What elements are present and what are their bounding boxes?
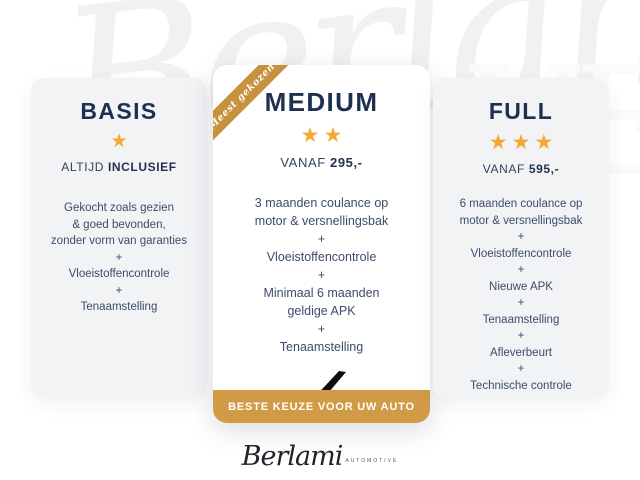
star-icon: ★ bbox=[301, 125, 320, 146]
feature-line: Vloeistoffencontrole bbox=[227, 248, 416, 266]
feature-list-full: 6 maanden coulance op motor & versnellin… bbox=[443, 196, 599, 394]
plan-price-medium: VANAF 295,- bbox=[225, 155, 418, 170]
cta-best-choice-button[interactable]: BESTE KEUZE VOOR UW AUTO bbox=[213, 390, 430, 423]
pricing-card-medium[interactable]: Meest gekozen MEDIUM ★ ★ VANAF 295,- 3 m… bbox=[213, 65, 430, 423]
star-rating-medium: ★ ★ bbox=[225, 125, 418, 146]
plan-subtitle-label: ALTIJD bbox=[61, 160, 104, 174]
star-rating-basis: ★ bbox=[41, 132, 197, 151]
plan-subtitle-emphasis: INCLUSIEF bbox=[108, 160, 177, 174]
feature-line: motor & versnellingsbak bbox=[227, 212, 416, 230]
feature-line: Tenaamstelling bbox=[227, 338, 416, 356]
feature-line: zonder vorm van garanties bbox=[43, 233, 195, 250]
feature-list-medium: 3 maanden coulance op motor & versnellin… bbox=[225, 194, 418, 356]
pricing-card-group: BASIS ★ ALTIJD INCLUSIEF Gekocht zoals g… bbox=[0, 0, 640, 480]
feature-line: Vloeistoffencontrole bbox=[43, 266, 195, 283]
feature-line: geldige APK bbox=[227, 302, 416, 320]
plan-price-full: VANAF 595,- bbox=[443, 162, 599, 176]
feature-separator: + bbox=[445, 295, 597, 312]
star-icon: ★ bbox=[110, 132, 127, 151]
logo-subtitle-text: AUTOMOTIVE bbox=[345, 458, 398, 470]
pricing-card-basis[interactable]: BASIS ★ ALTIJD INCLUSIEF Gekocht zoals g… bbox=[31, 78, 207, 398]
feature-separator: + bbox=[227, 266, 416, 284]
feature-line: Technische controle bbox=[445, 378, 597, 395]
feature-line: Tenaamstelling bbox=[445, 312, 597, 329]
feature-separator: + bbox=[445, 229, 597, 246]
feature-line: Gekocht zoals gezien bbox=[43, 200, 195, 217]
price-prefix-label: VANAF bbox=[280, 155, 325, 170]
logo-script-text: Berlami bbox=[242, 443, 343, 470]
feature-line: motor & versnellingsbak bbox=[445, 213, 597, 230]
pricing-card-full[interactable]: FULL ★ ★ ★ VANAF 595,- 6 maanden coulanc… bbox=[433, 78, 609, 398]
feature-line: & goed bevonden, bbox=[43, 217, 195, 234]
star-rating-full: ★ ★ ★ bbox=[443, 132, 599, 153]
feature-line: 3 maanden coulance op bbox=[227, 194, 416, 212]
feature-separator: + bbox=[227, 230, 416, 248]
brand-logo: Berlami AUTOMOTIVE bbox=[0, 428, 640, 470]
plan-title-basis: BASIS bbox=[41, 98, 197, 125]
feature-line: 6 maanden coulance op bbox=[445, 196, 597, 213]
feature-line: Nieuwe APK bbox=[445, 279, 597, 296]
feature-line: Minimaal 6 maanden bbox=[227, 284, 416, 302]
feature-line: Vloeistoffencontrole bbox=[445, 246, 597, 263]
price-prefix-label: VANAF bbox=[483, 162, 525, 176]
feature-line: Afleverbeurt bbox=[445, 345, 597, 362]
plan-subtitle-basis: ALTIJD INCLUSIEF bbox=[41, 160, 197, 174]
feature-separator: + bbox=[445, 361, 597, 378]
star-icon: ★ bbox=[489, 132, 508, 153]
feature-separator: + bbox=[445, 262, 597, 279]
feature-separator: + bbox=[445, 328, 597, 345]
feature-separator: + bbox=[43, 250, 195, 267]
feature-list-basis: Gekocht zoals gezien & goed bevonden, zo… bbox=[41, 200, 197, 316]
feature-separator: + bbox=[227, 320, 416, 338]
star-icon: ★ bbox=[512, 132, 531, 153]
star-icon: ★ bbox=[324, 125, 343, 146]
feature-separator: + bbox=[43, 283, 195, 300]
price-value: 295,- bbox=[330, 155, 363, 170]
price-value: 595,- bbox=[529, 162, 559, 176]
plan-title-full: FULL bbox=[443, 98, 599, 125]
feature-line: Tenaamstelling bbox=[43, 299, 195, 316]
star-icon: ★ bbox=[534, 132, 553, 153]
